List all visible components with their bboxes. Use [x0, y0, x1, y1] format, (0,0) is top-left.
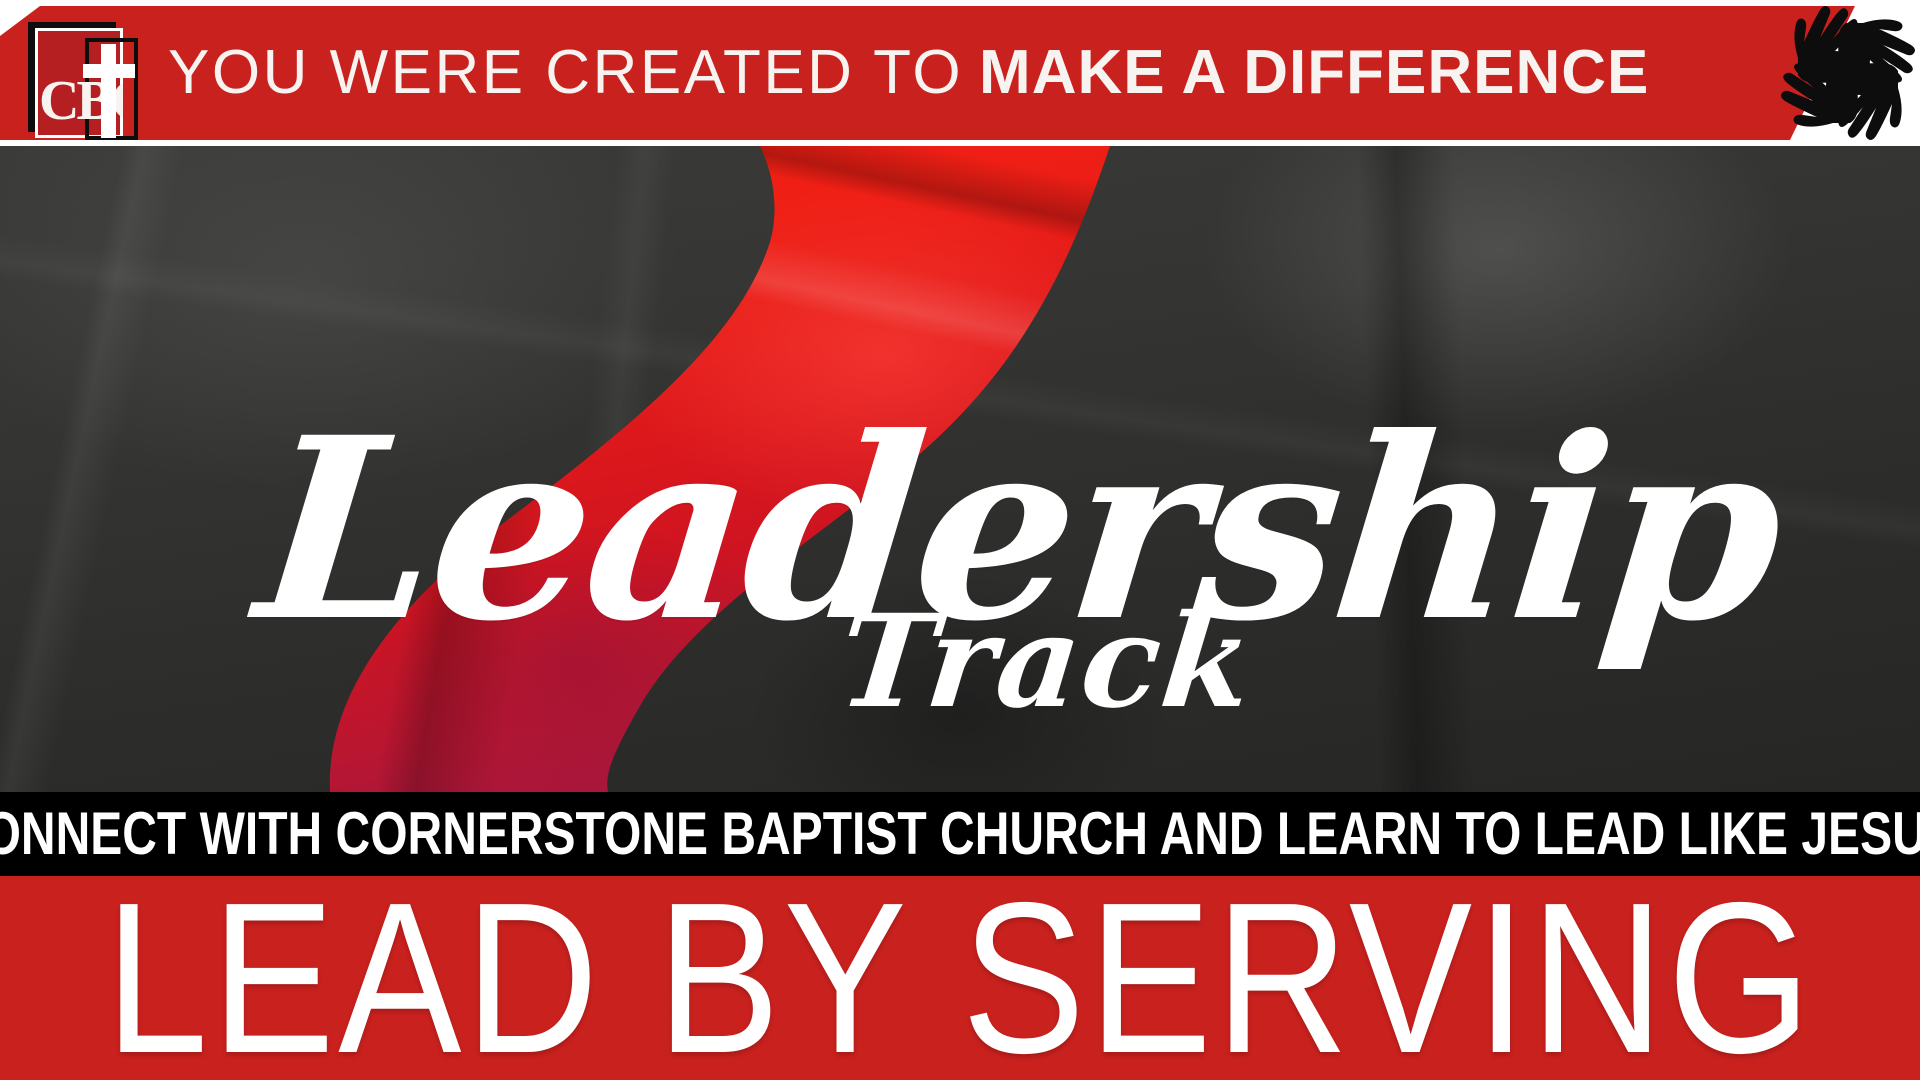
poster-root: CBC YOU WERE CREATED TO MAKE A DIFFERENC… [0, 0, 1920, 1080]
tagline-bold: MAKE A DIFFERENCE [979, 42, 1649, 104]
four-hands-teamwork-icon [1780, 0, 1916, 146]
headline-band: LEAD BY SERVING [0, 876, 1920, 1080]
leadership-track-wordmark: Leadership Track [0, 146, 1920, 792]
subtitle-band: CONNECT WITH CORNERSTONE BAPTIST CHURCH … [0, 792, 1920, 876]
cross-icon [101, 44, 116, 138]
hero-subtitle: Track [833, 598, 1259, 726]
subtitle-text: CONNECT WITH CORNERSTONE BAPTIST CHURCH … [0, 804, 1920, 864]
tagline: YOU WERE CREATED TO MAKE A DIFFERENCE [168, 40, 1649, 106]
headline-text: LEAD BY SERVING [105, 876, 1815, 1080]
cbc-logo: CBC [28, 22, 138, 140]
top-banner: CBC YOU WERE CREATED TO MAKE A DIFFERENC… [0, 0, 1920, 146]
tagline-plain: YOU WERE CREATED TO [168, 42, 963, 104]
cross-icon-bar [83, 64, 135, 78]
